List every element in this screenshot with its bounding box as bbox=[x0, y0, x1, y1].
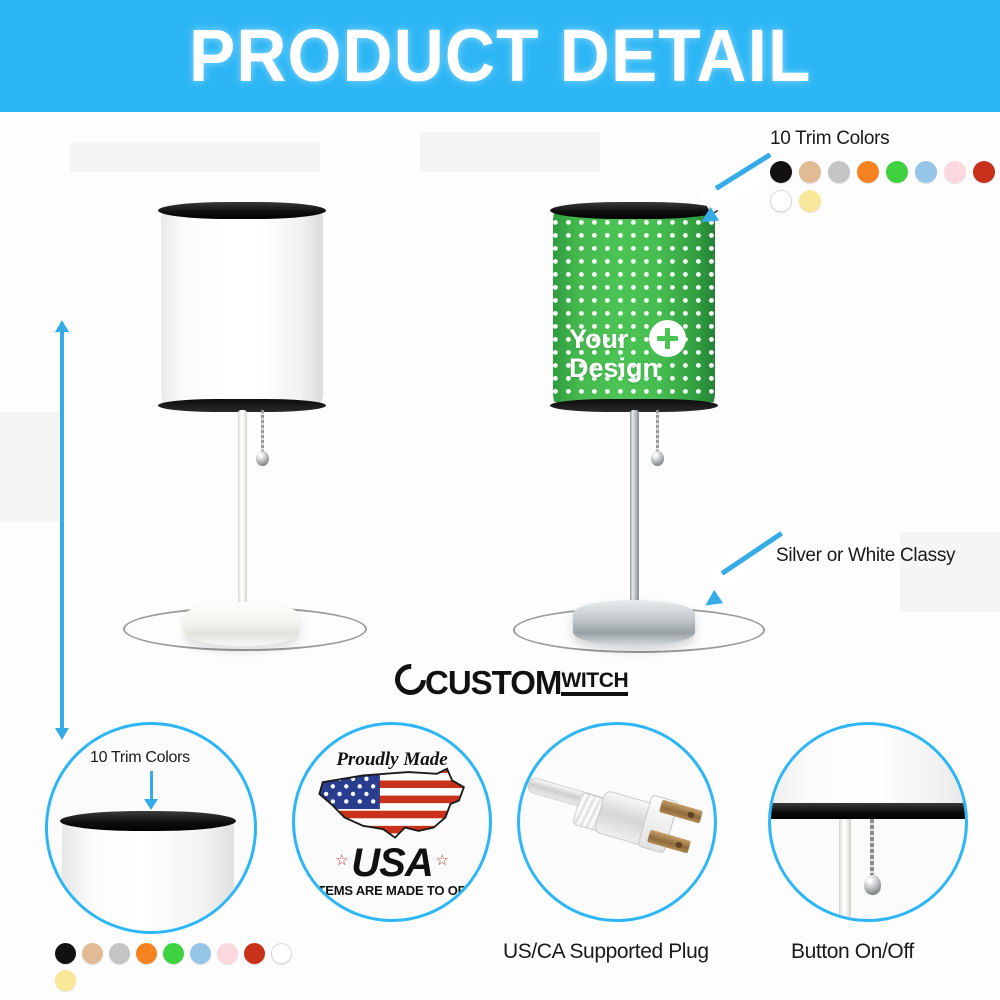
bg-blotch bbox=[0, 412, 60, 522]
product-detail-page: PRODUCT DETAIL 7in~18cm 20in~50cm bbox=[0, 0, 1000, 1000]
plus-icon[interactable] bbox=[649, 320, 686, 357]
swatch-red[interactable] bbox=[244, 943, 265, 964]
panel-circle: Proudly Made in the bbox=[292, 722, 492, 922]
swatch-white[interactable] bbox=[770, 190, 792, 212]
bg-blotch bbox=[900, 532, 1000, 612]
panel-circle: 10 Trim Colors bbox=[45, 722, 257, 934]
lampshade-trim-closeup bbox=[60, 811, 236, 831]
trim-colors-callout-arrow bbox=[700, 162, 780, 212]
panel-circle bbox=[768, 722, 968, 922]
silver-lamp-pole bbox=[630, 410, 639, 628]
lampshade-closeup bbox=[768, 729, 968, 807]
pull-chain-ball[interactable] bbox=[651, 451, 664, 466]
design-line-1: Your bbox=[569, 324, 629, 354]
swatch-pink[interactable] bbox=[944, 161, 966, 183]
swatch-tan[interactable] bbox=[799, 161, 821, 183]
base-finish-label: Silver or White Classy bbox=[776, 545, 955, 567]
header-banner: PRODUCT DETAIL bbox=[0, 0, 1000, 112]
swatch-gray[interactable] bbox=[109, 943, 130, 964]
lampshade-closeup bbox=[62, 825, 234, 934]
white-lamp bbox=[161, 207, 391, 647]
star-right-icon: ☆ bbox=[436, 851, 449, 869]
swatch-black[interactable] bbox=[770, 161, 792, 183]
swatch-green[interactable] bbox=[163, 943, 184, 964]
pull-chain[interactable] bbox=[261, 410, 264, 454]
panel-switch-caption: Button On/Off bbox=[791, 940, 914, 964]
trim-colors-title: 10 Trim Colors bbox=[770, 128, 1000, 150]
swatch-red[interactable] bbox=[973, 161, 995, 183]
prong-hole bbox=[687, 811, 695, 819]
white-lamp-pole bbox=[238, 410, 247, 628]
lampshade-top-trim bbox=[158, 202, 326, 219]
arrow-shaft bbox=[721, 531, 783, 575]
lampshade-top-trim bbox=[550, 202, 718, 219]
usa-badge-bottom-text: ALL ITEMS ARE MADE TO ORDER! bbox=[292, 883, 492, 898]
brand-logo: CUSTOM WITCH bbox=[395, 664, 628, 698]
prong-hole bbox=[675, 841, 683, 849]
swatch-yellow[interactable] bbox=[799, 190, 821, 212]
swatch-yellow[interactable] bbox=[55, 970, 76, 991]
trim-color-swatch-row bbox=[770, 161, 1000, 212]
logo-secondary-text: WITCH bbox=[561, 671, 628, 696]
swatch-light-blue[interactable] bbox=[915, 161, 937, 183]
silver-lamp-base bbox=[573, 600, 695, 646]
lampshade-trim-closeup bbox=[768, 803, 968, 819]
pull-chain-ball-closeup[interactable] bbox=[864, 875, 881, 895]
trim-color-swatch-row bbox=[55, 943, 303, 991]
design-line-2: Design bbox=[569, 353, 659, 383]
panel-plug-caption: US/CA Supported Plug bbox=[503, 940, 709, 964]
usa-badge: Proudly Made in the bbox=[295, 725, 489, 919]
bottom-trim-color-swatches bbox=[55, 943, 305, 991]
arrow-shaft bbox=[715, 152, 772, 190]
arrow-shaft bbox=[150, 771, 153, 801]
green-lampshade: Your Design bbox=[553, 207, 715, 407]
white-lamp-base bbox=[185, 602, 299, 646]
lamp-pole-closeup bbox=[839, 819, 851, 922]
swatch-black[interactable] bbox=[55, 943, 76, 964]
pull-chain-closeup[interactable] bbox=[870, 819, 874, 879]
bg-blotch bbox=[420, 132, 600, 172]
arrow-shaft bbox=[60, 330, 64, 730]
pull-chain[interactable] bbox=[656, 410, 659, 454]
swatch-orange[interactable] bbox=[136, 943, 157, 964]
star-left-icon: ☆ bbox=[335, 851, 348, 869]
trim-colors-panel: 10 Trim Colors bbox=[770, 128, 1000, 212]
pull-chain-ball[interactable] bbox=[256, 451, 269, 466]
bg-blotch bbox=[70, 142, 320, 172]
page-title: PRODUCT DETAIL bbox=[189, 19, 811, 93]
arrow-head-bottom-icon bbox=[55, 728, 69, 740]
panel-circle bbox=[517, 722, 717, 922]
swatch-light-blue[interactable] bbox=[190, 943, 211, 964]
white-lampshade bbox=[161, 207, 323, 407]
arrow-head-down-icon bbox=[144, 799, 158, 810]
swatch-green[interactable] bbox=[886, 161, 908, 183]
height-dimension-arrow bbox=[55, 320, 69, 740]
swatch-orange[interactable] bbox=[857, 161, 879, 183]
swatch-gray[interactable] bbox=[828, 161, 850, 183]
swatch-pink[interactable] bbox=[217, 943, 238, 964]
usa-map-flag-icon bbox=[311, 765, 479, 843]
swatch-tan[interactable] bbox=[82, 943, 103, 964]
panel-inner-label: 10 Trim Colors bbox=[90, 749, 190, 767]
logo-primary-text: CUSTOM bbox=[425, 668, 561, 698]
usa-badge-big-text: USA bbox=[351, 841, 432, 886]
swatch-white[interactable] bbox=[271, 943, 292, 964]
